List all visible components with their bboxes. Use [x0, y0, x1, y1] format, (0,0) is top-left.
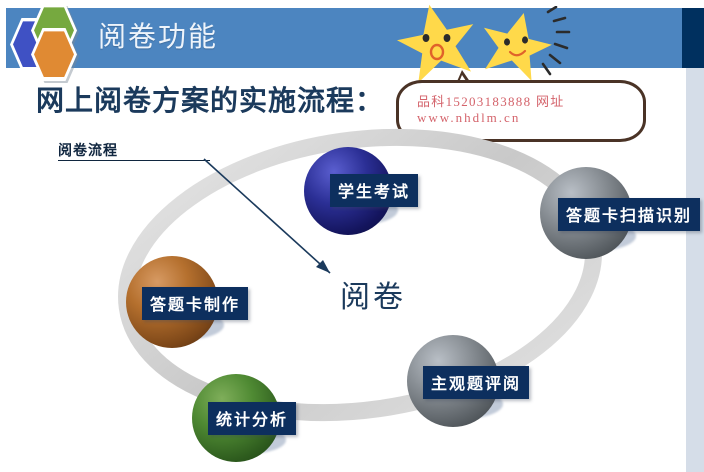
hex-orange-fill — [34, 31, 74, 77]
center-label: 阅卷 — [340, 272, 406, 316]
callout-rule — [58, 160, 210, 161]
callout-label-text: 阅卷流程 — [58, 140, 118, 160]
contact-phone-line: 品科15203183888 网址 — [417, 91, 565, 110]
node-label: 学生考试 — [330, 174, 418, 207]
node-label: 主观题评阅 — [423, 366, 529, 399]
node-label: 答题卡制作 — [142, 287, 248, 320]
hexagon-logo — [8, 0, 100, 76]
node-label: 统计分析 — [208, 402, 296, 435]
callout-flow-label: 阅卷流程 — [58, 140, 118, 160]
header-underline — [6, 68, 682, 71]
right-margin-top-gap — [686, 0, 704, 8]
node-label: 答题卡扫描识别 — [558, 198, 700, 231]
star-smiling-icon — [480, 6, 572, 86]
header-title: 阅卷功能 — [98, 16, 218, 60]
slide-canvas: 阅卷功能 网上阅卷方案的实施流程： — [0, 0, 704, 472]
header-accent-block — [682, 8, 704, 68]
